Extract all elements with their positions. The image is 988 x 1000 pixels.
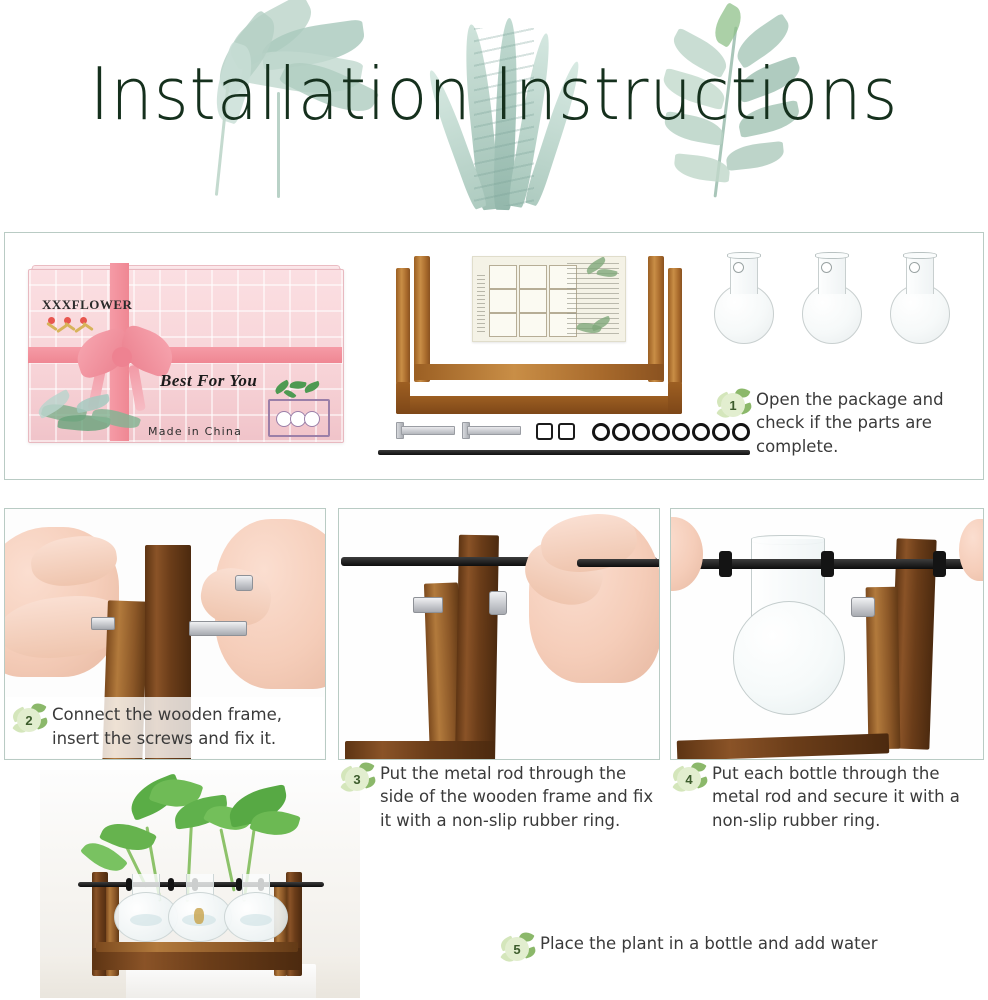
frame-upright-left-outer <box>396 268 410 384</box>
step-2-caption: 2 Connect the wooden frame, insert the s… <box>6 697 324 758</box>
glass-bottle-3 <box>888 252 950 360</box>
screw-side <box>413 597 443 613</box>
leaf-badge-icon: 1 <box>716 388 750 422</box>
box-origin-label: Made in China <box>148 425 242 438</box>
step-5-photo <box>40 770 360 998</box>
frame-upright-right-outer <box>668 268 682 384</box>
bulb-vase-1 <box>114 874 176 940</box>
hand-left-holding <box>671 517 703 591</box>
page-header: Installation Instructions <box>0 0 988 222</box>
screw-bolt <box>851 597 875 617</box>
glass-bottles-photo <box>712 252 974 372</box>
step-3-panel <box>338 508 660 760</box>
hand-right-holding <box>959 519 983 581</box>
glass-bottle-2 <box>800 252 862 360</box>
rubber-ring-1 <box>592 423 610 441</box>
rubber-ring-6 <box>692 423 710 441</box>
step-1-caption: 1 Open the package and check if the part… <box>716 388 974 458</box>
frame-base-shadow <box>396 382 410 414</box>
step-3-photo <box>339 509 659 759</box>
box-brand-label: XXXFLOWER <box>42 297 132 313</box>
rubber-ring-3 <box>632 423 650 441</box>
step-4-panel <box>670 508 984 760</box>
screw-shaft-1 <box>401 426 455 435</box>
installation-instructions-page: Installation Instructions XXXFLOWER Best… <box>0 0 988 1000</box>
rubber-ring-mid <box>821 551 834 577</box>
leaf-badge-icon: 2 <box>12 703 46 737</box>
step-number: 3 <box>345 767 369 791</box>
step-2-text: Connect the wooden frame, insert the scr… <box>52 703 318 750</box>
step-number: 5 <box>505 937 529 961</box>
box-foliage-icon <box>36 395 146 443</box>
step-3-text: Put the metal rod through the side of th… <box>380 762 660 832</box>
box-flower-icon <box>46 317 102 335</box>
bulb-vase-3 <box>224 874 286 940</box>
glass-bottle-1 <box>712 252 774 360</box>
box-tagline: Best For You <box>160 371 257 391</box>
hex-nut-1 <box>536 423 553 440</box>
screw-shaft-2 <box>467 426 521 435</box>
wooden-frame-parts-photo <box>378 250 708 465</box>
step-4-photo <box>671 509 983 759</box>
metal-rod-part <box>378 450 750 455</box>
rubber-ring-4 <box>652 423 670 441</box>
ribbon-horizontal <box>28 347 342 363</box>
leaf-badge-icon: 4 <box>672 762 706 796</box>
step-4-text: Put each bottle through the metal rod an… <box>712 762 984 832</box>
step-number: 2 <box>17 708 41 732</box>
metal-rod-tip <box>577 559 659 567</box>
wood-base <box>345 741 495 759</box>
bulb-vase-2 <box>168 874 230 940</box>
gift-box-photo: XXXFLOWER Best For You Made in China <box>20 255 350 455</box>
wood-plank-outer <box>455 535 499 759</box>
leaf-badge-icon: 5 <box>500 932 534 966</box>
instruction-card <box>472 256 626 342</box>
hex-nut-2 <box>558 423 575 440</box>
step-3-caption: 3 Put the metal rod through the side of … <box>340 762 660 832</box>
page-title: Installation Instructions <box>35 52 954 136</box>
step-number: 4 <box>677 767 701 791</box>
step-2-panel: 2 Connect the wooden frame, insert the s… <box>4 508 326 760</box>
rubber-ring-right <box>933 551 946 577</box>
frame-base-bar <box>396 396 682 414</box>
step-4-caption: 4 Put each bottle through the metal rod … <box>672 762 984 832</box>
rubber-ring-5 <box>672 423 690 441</box>
step-1-text: Open the package and check if the parts … <box>756 388 974 458</box>
step-5-caption: 5 Place the plant in a bottle and add wa… <box>500 932 970 966</box>
box-product-icon <box>266 383 328 439</box>
screw-inserted-right <box>189 621 247 636</box>
bow-knot <box>112 347 132 367</box>
screw-inserted-left <box>91 617 115 630</box>
frame-base-shadow-right <box>668 382 682 414</box>
rubber-ring-2 <box>612 423 630 441</box>
screw-head-right <box>235 575 253 591</box>
screw-nut-side <box>489 591 507 615</box>
step-5-text: Place the plant in a bottle and add wate… <box>540 932 878 955</box>
step-number: 1 <box>721 393 745 417</box>
stand-base-top <box>96 942 298 952</box>
leaf-badge-icon: 3 <box>340 762 374 796</box>
rubber-ring-left <box>719 551 732 577</box>
frame-crossbar-upper <box>414 364 664 380</box>
